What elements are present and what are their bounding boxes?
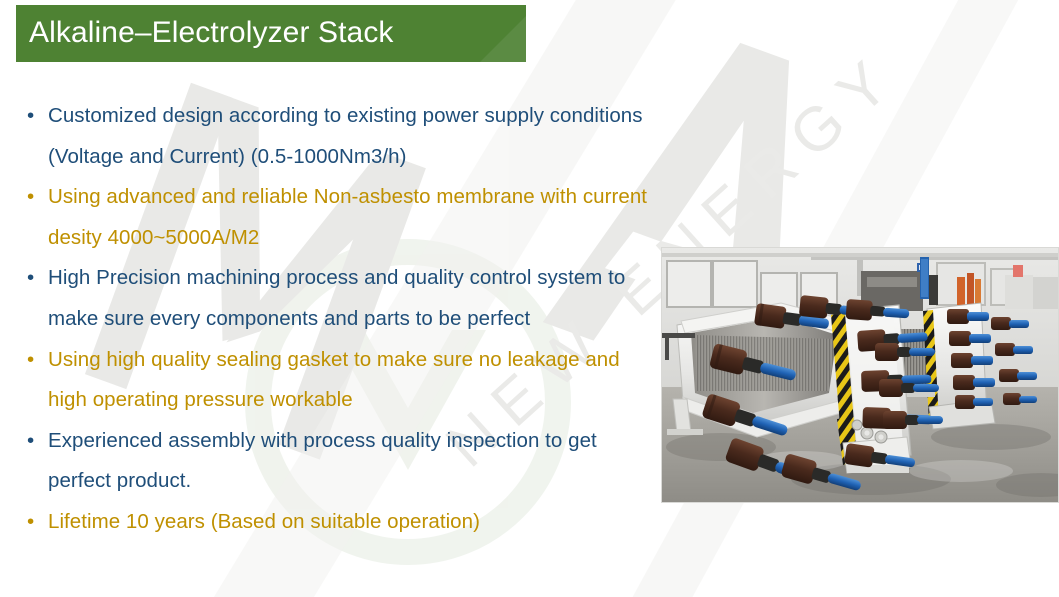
list-item-text: Using advanced and reliable Non-asbesto … xyxy=(48,177,662,258)
bullet-marker-icon: • xyxy=(27,258,41,299)
banner-corner-sheen xyxy=(480,16,526,62)
bullet-marker-icon: • xyxy=(27,177,41,218)
page-title: Alkaline–Electrolyzer Stack xyxy=(29,12,394,54)
slide-title-banner: Alkaline–Electrolyzer Stack xyxy=(16,5,526,62)
list-item: • Lifetime 10 years (Based on suitable o… xyxy=(22,502,662,543)
bullet-marker-icon: • xyxy=(27,502,41,543)
feature-bullet-list: • Customized design according to existin… xyxy=(22,96,662,543)
list-item-text: High Precision machining process and qua… xyxy=(48,258,662,339)
list-item-text: Lifetime 10 years (Based on suitable ope… xyxy=(48,502,662,543)
list-item-text: Experienced assembly with process qualit… xyxy=(48,421,662,502)
bullet-marker-icon: • xyxy=(27,421,41,462)
product-photo xyxy=(661,247,1059,503)
list-item-text: Using high quality sealing gasket to mak… xyxy=(48,340,662,421)
list-item: • Customized design according to existin… xyxy=(22,96,662,177)
list-item: • Experienced assembly with process qual… xyxy=(22,421,662,502)
list-item: • Using high quality sealing gasket to m… xyxy=(22,340,662,421)
list-item-text: Customized design according to existing … xyxy=(48,96,662,177)
list-item: • High Precision machining process and q… xyxy=(22,258,662,339)
list-item: • Using advanced and reliable Non-asbest… xyxy=(22,177,662,258)
slide-canvas: NEW ENERGY Alkaline–Electrolyzer Stack •… xyxy=(0,0,1059,597)
bullet-marker-icon: • xyxy=(27,96,41,137)
bullet-marker-icon: • xyxy=(27,340,41,381)
